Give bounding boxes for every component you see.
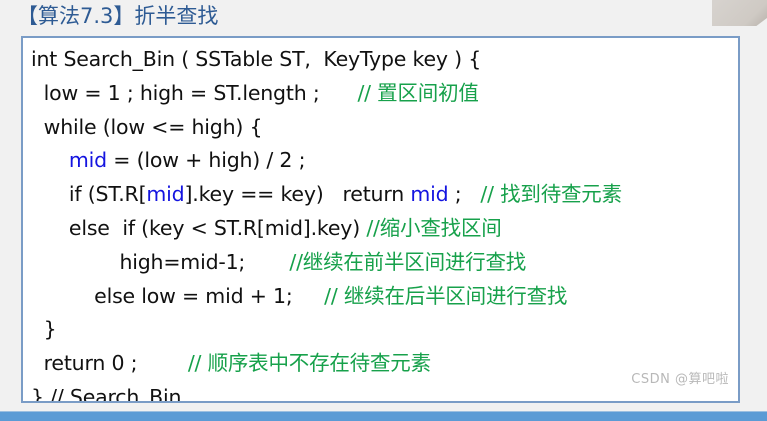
corner-fold-icon (755, 18, 767, 27)
code-token-gap (245, 250, 289, 274)
code-token-indent (31, 115, 44, 139)
csdn-watermark: CSDN @算吧啦 (631, 368, 729, 387)
code-panel: int Search_Bin ( SSTable ST, KeyType key… (21, 36, 740, 403)
code-line: } // Search_Bin (31, 381, 730, 403)
code-line: high=mid-1; //继续在前半区间进行查找 (31, 246, 730, 280)
code-line: mid = (low + high) / 2 ; (31, 144, 730, 178)
code-token-code: high=mid-1; (119, 250, 245, 274)
code-line: return 0 ; // 顺序表中不存在待查元素 (31, 347, 730, 381)
code-line: else if (key < ST.R[mid].key) //缩小查找区间 (31, 212, 730, 246)
code-token-code_after: ].key == key) return (184, 182, 410, 206)
code-token-code: low = 1 ; high = ST.length ; (44, 81, 320, 105)
code-token-code: else low = mid + 1; (94, 284, 292, 308)
code-token-comment: //继续在前半区间进行查找 (289, 250, 526, 274)
code-token-code_after2: ; (448, 182, 461, 206)
code-line: int Search_Bin ( SSTable ST, KeyType key… (31, 43, 730, 77)
code-token-highlight: mid (69, 148, 107, 172)
code-token-gap (461, 182, 480, 206)
code-token-comment: // 找到待查元素 (480, 182, 622, 206)
code-token-comment: //缩小查找区间 (366, 216, 501, 240)
code-line: while (low <= high) { (31, 111, 730, 145)
code-token-indent (31, 317, 44, 341)
code-line: low = 1 ; high = ST.length ; // 置区间初值 (31, 77, 730, 111)
code-token-indent (31, 351, 44, 375)
code-token-comment: // 置区间初值 (357, 81, 478, 105)
code-token-highlight: mid (146, 182, 184, 206)
code-line: if (ST.R[mid].key == key) return mid ; /… (31, 178, 730, 212)
code-token-indent (31, 182, 69, 206)
code-token-code: if (ST.R[ (69, 182, 147, 206)
code-token-indent (31, 216, 69, 240)
code-token-indent (31, 81, 44, 105)
code-token-code_after: = (low + high) / 2 ; (107, 148, 305, 172)
bottom-accent-bar (0, 411, 767, 421)
page-title: 【算法7.3】折半查找 (17, 2, 218, 30)
code-token-indent (31, 148, 69, 172)
code-token-gap (320, 81, 358, 105)
code-line-list: int Search_Bin ( SSTable ST, KeyType key… (23, 43, 738, 403)
code-token-comment: // 顺序表中不存在待查元素 (188, 351, 431, 375)
code-token-indent (31, 250, 119, 274)
code-token-code: int Search_Bin ( SSTable ST, KeyType key… (31, 47, 481, 71)
code-line: else low = mid + 1; // 继续在后半区间进行查找 (31, 280, 730, 314)
code-line: } (31, 313, 730, 347)
code-token-highlight2: mid (410, 182, 448, 206)
code-token-gap (137, 351, 188, 375)
code-token-comment: // 继续在后半区间进行查找 (324, 284, 567, 308)
code-token-gap (293, 284, 325, 308)
code-token-code: while (low <= high) { (44, 115, 263, 139)
code-token-indent (31, 284, 94, 308)
code-token-code: return 0 ; (44, 351, 138, 375)
code-token-code: else if (key < ST.R[mid].key) (69, 216, 366, 240)
code-token-code: } // Search_Bin (31, 385, 181, 403)
code-token-code: } (44, 317, 57, 341)
